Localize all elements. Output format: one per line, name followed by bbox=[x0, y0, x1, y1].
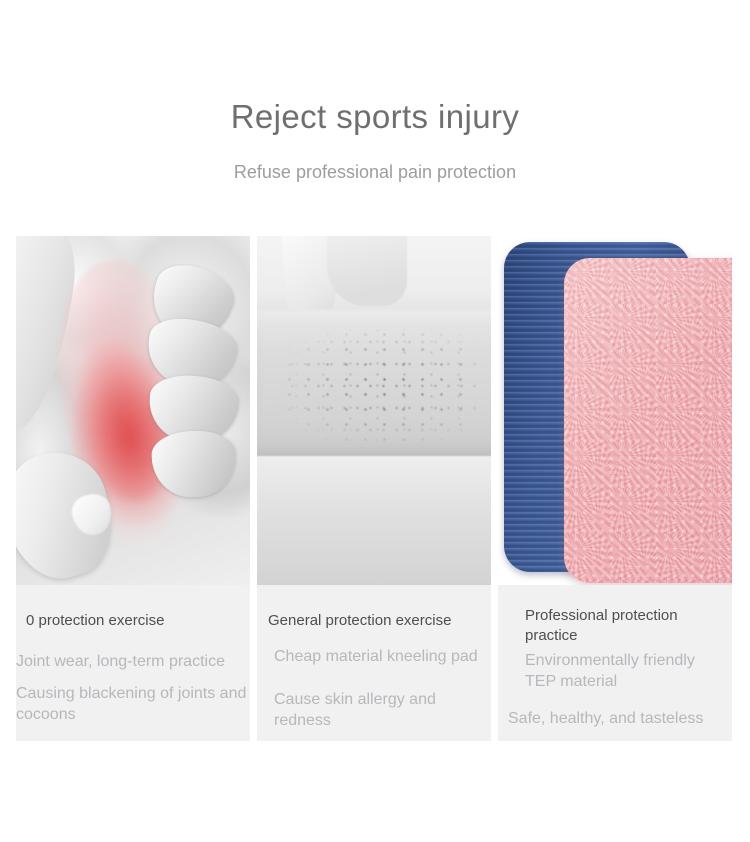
card-detail-line: Environmentally friendly TEP material bbox=[525, 650, 725, 692]
comparison-cards: 0 protection exercise Joint wear, long-t… bbox=[16, 236, 734, 741]
card-text-block: Professional protection practice Environ… bbox=[498, 585, 732, 741]
card-text-block: 0 protection exercise Joint wear, long-t… bbox=[16, 585, 250, 741]
comparison-card-general-protection: General protection exercise Cheap materi… bbox=[257, 236, 491, 741]
knee-pain-photo bbox=[16, 236, 250, 585]
skin-rash-photo bbox=[257, 236, 491, 585]
comparison-card-professional-protection: Professional protection practice Environ… bbox=[498, 236, 732, 741]
card-text-block: General protection exercise Cheap materi… bbox=[257, 585, 491, 741]
card-detail-line: Safe, healthy, and tasteless bbox=[508, 708, 732, 729]
pink-kneeling-pad bbox=[564, 258, 732, 583]
card-heading: General protection exercise bbox=[268, 611, 491, 631]
kneeling-pads-photo bbox=[498, 236, 732, 585]
card-detail-line: Cause skin allergy and redness bbox=[274, 689, 479, 731]
card-heading: 0 protection exercise bbox=[26, 611, 250, 631]
page-subtitle: Refuse professional pain protection bbox=[0, 160, 750, 184]
pads-photo-base bbox=[498, 236, 732, 585]
card-detail-line: Joint wear, long-term practice bbox=[16, 651, 250, 672]
comparison-card-no-protection: 0 protection exercise Joint wear, long-t… bbox=[16, 236, 250, 741]
fabric-shape bbox=[327, 236, 407, 306]
lower-surface-shape bbox=[257, 456, 491, 585]
card-detail-line: Causing blackening of joints and cocoons bbox=[16, 683, 250, 725]
product-feature-page: Reject sports injury Refuse professional… bbox=[0, 0, 750, 842]
rash-speckles bbox=[280, 327, 477, 446]
page-title: Reject sports injury bbox=[0, 96, 750, 138]
card-heading: Professional protection practice bbox=[525, 606, 715, 646]
page-header: Reject sports injury Refuse professional… bbox=[0, 0, 750, 184]
card-detail-line: Cheap material kneeling pad bbox=[274, 646, 479, 667]
